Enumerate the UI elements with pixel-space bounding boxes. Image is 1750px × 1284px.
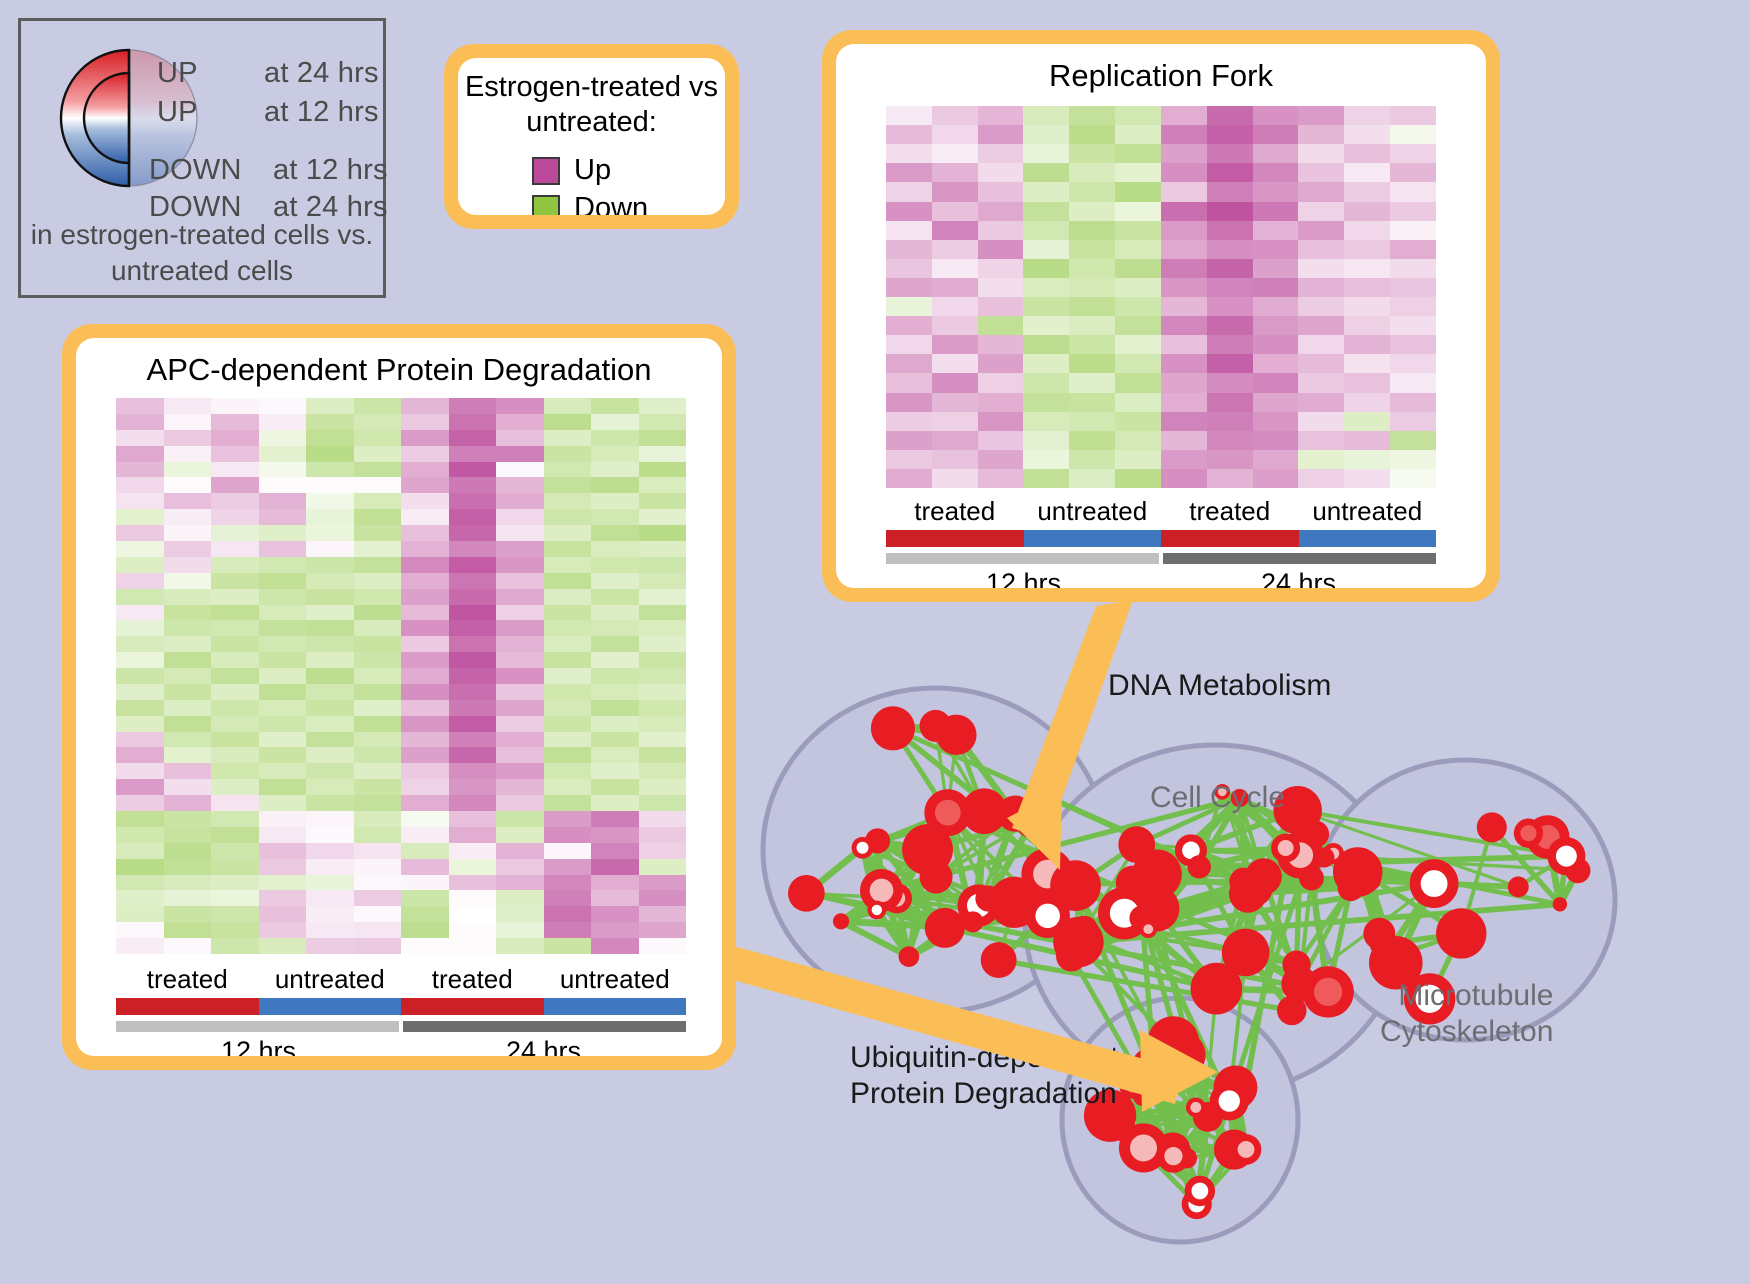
heatmap-cell (1069, 163, 1115, 182)
heatmap-cell (449, 398, 497, 414)
heatmap-cell (886, 354, 932, 373)
heatmap-cell (1023, 163, 1069, 182)
network-node[interactable] (975, 886, 1001, 912)
node-outer (1282, 951, 1310, 979)
heatmap-cell (116, 636, 164, 652)
heatmap-cell (211, 668, 259, 684)
heatmap-cell (1344, 354, 1390, 373)
heatmap-cell (639, 430, 687, 446)
heatmap-cell (164, 620, 212, 636)
heatmap-cell (1207, 354, 1253, 373)
network-node[interactable] (962, 911, 983, 932)
condition-label: untreated (1024, 496, 1162, 527)
network-node[interactable] (1130, 1046, 1177, 1093)
heatmap-cell (1390, 412, 1436, 431)
heatmap-cell (401, 763, 449, 779)
heatmap-cell (116, 716, 164, 732)
heatmap-cell (1115, 316, 1161, 335)
heatmap-cell (932, 373, 978, 392)
heatmap-cell (1298, 431, 1344, 450)
heatmap-cell (591, 890, 639, 906)
heatmap-cell (1253, 278, 1299, 297)
heatmap-cell (1298, 393, 1344, 412)
network-node[interactable] (788, 875, 825, 912)
heatmap-cell (116, 589, 164, 605)
heatmap-cell (401, 573, 449, 589)
heatmap-cell (1344, 335, 1390, 354)
node-outer (1130, 1046, 1177, 1093)
condition-bar-segment (1024, 530, 1162, 547)
node-inner (1191, 1183, 1208, 1200)
network-node[interactable] (1333, 847, 1382, 896)
heatmap-cell (1390, 221, 1436, 240)
node-inner (935, 800, 961, 826)
heatmap-cell (1023, 278, 1069, 297)
heatmap-cell (1344, 182, 1390, 201)
network-node[interactable] (1372, 948, 1394, 970)
heatmap-cell (354, 732, 402, 748)
node-outer (833, 913, 849, 929)
heatmap-cell (306, 573, 354, 589)
heatmap-cell (449, 573, 497, 589)
heatmap-cell (116, 922, 164, 938)
heatmap-cell (1207, 412, 1253, 431)
heatmap-cell (164, 462, 212, 478)
heatmap-cell (449, 938, 497, 954)
condition-label: untreated (544, 964, 687, 995)
heatmap-cell (544, 509, 592, 525)
apc-condition-labels: treated untreated treated untreated (116, 964, 686, 995)
heatmap-cell (259, 462, 307, 478)
network-node[interactable] (1188, 855, 1211, 878)
heatmap-cell (306, 493, 354, 509)
heatmap-cell (639, 605, 687, 621)
heatmap-cell (496, 430, 544, 446)
condition-bar-segment (401, 998, 544, 1015)
network-node[interactable] (1271, 834, 1300, 863)
heatmap-cell (1023, 354, 1069, 373)
node-outer (1050, 860, 1101, 911)
heatmap-cell (544, 843, 592, 859)
heatmap-cell (639, 859, 687, 875)
heatmap-cell (886, 125, 932, 144)
heatmap-cell (496, 477, 544, 493)
heatmap-cell (449, 890, 497, 906)
network-node[interactable] (1139, 920, 1157, 938)
heatmap-cell (544, 589, 592, 605)
heatmap-cell (306, 541, 354, 557)
heatmap-cell (591, 700, 639, 716)
heatmap-cell (259, 763, 307, 779)
heatmap-cell (978, 354, 1024, 373)
network-node[interactable] (1157, 1140, 1190, 1173)
heatmap-cell (544, 732, 592, 748)
network-node[interactable] (961, 788, 1007, 834)
network-node[interactable] (1314, 847, 1334, 867)
heatmap-cell (116, 747, 164, 763)
heatmap-cell (449, 541, 497, 557)
heatmap-cell (978, 412, 1024, 431)
network-node[interactable] (833, 913, 849, 929)
heatmap-cell (211, 811, 259, 827)
network-node[interactable] (899, 946, 920, 967)
heatmap-cell (1207, 125, 1253, 144)
heatmap-cell (306, 636, 354, 652)
heatmap-cell (449, 763, 497, 779)
heatmap-cell (886, 393, 932, 412)
heatmap-cell (1115, 240, 1161, 259)
node-inner (1314, 978, 1342, 1006)
heatmap-cell (211, 509, 259, 525)
heatmap-cell (1298, 221, 1344, 240)
heatmap-cell (1207, 393, 1253, 412)
heatmap-cell (259, 795, 307, 811)
heatmap-cell (1253, 354, 1299, 373)
network-node[interactable] (1553, 897, 1567, 911)
replication-fork-panel: Replication Fork treated untreated treat… (822, 30, 1500, 602)
heatmap-cell (544, 938, 592, 954)
heatmap-cell (259, 859, 307, 875)
heatmap-cell (164, 446, 212, 462)
heatmap-cell (401, 922, 449, 938)
network-node[interactable] (1222, 929, 1270, 977)
heatmap-cell (639, 795, 687, 811)
time-label: 12 hrs (116, 1036, 401, 1056)
heatmap-cell (496, 557, 544, 573)
network-node[interactable] (1277, 996, 1306, 1025)
heatmap-cell (544, 922, 592, 938)
heatmap-cell (591, 747, 639, 763)
condition-label: treated (1161, 496, 1299, 527)
heatmap-cell (259, 430, 307, 446)
heatmap-cell (449, 462, 497, 478)
heatmap-cell (886, 431, 932, 450)
heatmap-cell (354, 430, 402, 446)
heatmap-cell (259, 557, 307, 573)
heatmap-cell (1390, 335, 1436, 354)
heatmap-cell (591, 795, 639, 811)
heatmap-cell (978, 202, 1024, 221)
heatmap-cell (978, 373, 1024, 392)
node-outer (1363, 918, 1395, 950)
network-node[interactable] (1302, 966, 1353, 1017)
heatmap-cell (496, 541, 544, 557)
heatmap-cell (401, 430, 449, 446)
network-node[interactable] (852, 837, 874, 859)
heatmap-cell (639, 525, 687, 541)
replication-fork-time-bar (886, 553, 1436, 564)
heatmap-cell (259, 906, 307, 922)
network-node[interactable] (1210, 1082, 1249, 1121)
heatmap-cell (496, 668, 544, 684)
heatmap-cell (211, 747, 259, 763)
network-node[interactable] (1070, 916, 1098, 944)
node-outer (981, 942, 1017, 978)
heatmap-cell (401, 859, 449, 875)
heatmap-cell (1390, 144, 1436, 163)
heatmap-cell (1298, 354, 1344, 373)
heatmap-cell (544, 605, 592, 621)
heatmap-cell (354, 922, 402, 938)
heatmap-cell (496, 589, 544, 605)
heatmap-cell (544, 747, 592, 763)
heatmap-cell (1207, 259, 1253, 278)
heatmap-cell (1207, 335, 1253, 354)
network-node[interactable] (981, 942, 1017, 978)
heatmap-cell (932, 240, 978, 259)
heatmap-cell (1298, 106, 1344, 125)
heatmap-cell (449, 700, 497, 716)
heatmap-cell (886, 335, 932, 354)
heatmap-cell (164, 732, 212, 748)
network-node[interactable] (1299, 866, 1324, 891)
heatmap-cell (1069, 144, 1115, 163)
heatmap-cell (116, 779, 164, 795)
heatmap-cell (211, 573, 259, 589)
heatmap-cell (639, 684, 687, 700)
heatmap-cell (354, 875, 402, 891)
heatmap-cell (116, 493, 164, 509)
heatmap-cell (1069, 354, 1115, 373)
heatmap-cell (116, 541, 164, 557)
heatmap-cell (259, 525, 307, 541)
heatmap-cell (164, 716, 212, 732)
network-node[interactable] (1229, 868, 1257, 896)
network-node[interactable] (871, 706, 915, 750)
heatmap-cell (1298, 259, 1344, 278)
node-inner (1190, 1102, 1201, 1113)
condition-bar-segment (1299, 530, 1437, 547)
heatmap-cell (639, 811, 687, 827)
heatmap-cell (1161, 125, 1207, 144)
network-node[interactable] (1056, 941, 1087, 972)
heatmap-cell (639, 890, 687, 906)
heatmap-cell (1069, 412, 1115, 431)
network-node[interactable] (1547, 837, 1585, 875)
heatmap-cell (306, 811, 354, 827)
network-node[interactable] (867, 901, 886, 920)
heatmap-cell (1390, 202, 1436, 221)
heatmap-cell (116, 811, 164, 827)
network-node[interactable] (1282, 951, 1310, 979)
network-node[interactable] (1363, 918, 1395, 950)
heatmap-cell (164, 795, 212, 811)
heatmap-cell (639, 843, 687, 859)
heatmap-cell (306, 398, 354, 414)
heatmap-cell (1161, 469, 1207, 488)
heatmap-cell (1253, 335, 1299, 354)
heatmap-cell (639, 573, 687, 589)
network-node[interactable] (1186, 1097, 1206, 1117)
network-node[interactable] (1185, 1176, 1215, 1206)
heatmap-cell (1344, 240, 1390, 259)
heatmap-cell (1115, 354, 1161, 373)
heatmap-cell (886, 259, 932, 278)
heatmap-cell (116, 938, 164, 954)
heatmap-cell (1023, 182, 1069, 201)
heatmap-cell (449, 636, 497, 652)
time-label: 24 hrs (401, 1036, 686, 1056)
heatmap-cell (1390, 125, 1436, 144)
heatmap-cell (978, 431, 1024, 450)
heatmap-cell (211, 890, 259, 906)
heatmap-cell (449, 906, 497, 922)
node-outer (1508, 876, 1529, 897)
condition-bar-segment (886, 530, 1024, 547)
heatmap-cell (116, 398, 164, 414)
heatmap-cell (1344, 450, 1390, 469)
heatmap-cell (1253, 316, 1299, 335)
key-time-up-24: at 24 hrs (264, 57, 379, 90)
node-inner (1520, 825, 1536, 841)
heatmap-cell (496, 414, 544, 430)
network-node[interactable] (920, 710, 952, 742)
heatmap-cell (449, 605, 497, 621)
heatmap-cell (449, 446, 497, 462)
heatmap-cell (639, 620, 687, 636)
heatmap-cell (259, 875, 307, 891)
heatmap-cell (211, 398, 259, 414)
heatmap-cell (164, 493, 212, 509)
heatmap-cell (978, 240, 1024, 259)
heatmap-cell (544, 700, 592, 716)
node-inner (872, 905, 882, 915)
heatmap-cell (449, 668, 497, 684)
heatmap-cell (1344, 202, 1390, 221)
heatmap-cell (164, 509, 212, 525)
heatmap-cell (354, 541, 402, 557)
heatmap-cell (211, 493, 259, 509)
heatmap-cell (259, 509, 307, 525)
heatmap-cell (886, 106, 932, 125)
heatmap-cell (886, 316, 932, 335)
heatmap-cell (978, 469, 1024, 488)
heatmap-cell (1253, 182, 1299, 201)
heatmap-cell (639, 700, 687, 716)
heatmap-cell (1344, 373, 1390, 392)
heatmap-cell (1344, 259, 1390, 278)
heatmap-cell (449, 620, 497, 636)
heatmap-cell (116, 573, 164, 589)
network-node[interactable] (933, 918, 951, 936)
heatmap-cell (1390, 316, 1436, 335)
heatmap-cell (449, 922, 497, 938)
heatmap-cell (1023, 259, 1069, 278)
heatmap-cell (211, 684, 259, 700)
replication-fork-condition-labels: treated untreated treated untreated (886, 496, 1436, 527)
network-node[interactable] (902, 824, 953, 875)
heatmap-cell (354, 620, 402, 636)
heatmap-cell (1207, 469, 1253, 488)
node-inner (1035, 904, 1060, 929)
heatmap-cell (259, 716, 307, 732)
network-node[interactable] (1231, 1134, 1262, 1165)
heatmap-cell (639, 668, 687, 684)
node-outer (1553, 897, 1567, 911)
heatmap-cell (164, 811, 212, 827)
heatmap-cell (354, 716, 402, 732)
network-node[interactable] (1410, 859, 1459, 908)
heatmap-cell (1207, 450, 1253, 469)
heatmap-cell (1253, 202, 1299, 221)
heatmap-cell (306, 477, 354, 493)
network-node[interactable] (1477, 812, 1507, 842)
network-node[interactable] (1436, 908, 1486, 958)
node-outer (1229, 868, 1257, 896)
heatmap-cell (354, 605, 402, 621)
heatmap-cell (354, 827, 402, 843)
heatmap-cell (354, 462, 402, 478)
heatmap-cell (932, 316, 978, 335)
condition-bar-segment (1161, 530, 1299, 547)
heatmap-cell (116, 525, 164, 541)
heatmap-cell (1115, 469, 1161, 488)
heatmap-cell (591, 573, 639, 589)
heatmap-cell (978, 450, 1024, 469)
heatmap-cell (1161, 335, 1207, 354)
heatmap-cell (164, 477, 212, 493)
condition-bar-segment (259, 998, 402, 1015)
heatmap-cell (449, 811, 497, 827)
heatmap-cell (1161, 450, 1207, 469)
heatmap-cell (354, 700, 402, 716)
heatmap-cell (164, 430, 212, 446)
heatmap-cell (401, 684, 449, 700)
heatmap-cell (1253, 373, 1299, 392)
heatmap-cell (401, 811, 449, 827)
node-outer (788, 875, 825, 912)
heatmap-cell (116, 700, 164, 716)
heatmap-cell (116, 763, 164, 779)
heatmap-cell (1298, 316, 1344, 335)
heatmap-cell (211, 700, 259, 716)
heatmap-cell (306, 446, 354, 462)
time-bar-segment (403, 1021, 686, 1032)
network-node[interactable] (1508, 876, 1529, 897)
network-node[interactable] (1514, 819, 1543, 848)
heatmap-cell (449, 827, 497, 843)
heatmap-cell (211, 906, 259, 922)
heatmap-cell (116, 414, 164, 430)
heatmap-cell (401, 589, 449, 605)
heatmap-cell (116, 684, 164, 700)
heatmap-cell (886, 469, 932, 488)
heatmap-cell (544, 525, 592, 541)
heatmap-cell (932, 144, 978, 163)
heatmap-cell (544, 414, 592, 430)
heatmap-cell (591, 811, 639, 827)
heatmap-cell (886, 163, 932, 182)
heatmap-cell (164, 700, 212, 716)
heatmap-cell (401, 890, 449, 906)
heatmap-cell (1298, 412, 1344, 431)
heatmap-cell (932, 393, 978, 412)
heatmap-cell (1069, 450, 1115, 469)
heatmap-cell (259, 605, 307, 621)
heatmap-cell (1115, 259, 1161, 278)
heatmap-cell (1298, 182, 1344, 201)
heatmap-cell (1161, 297, 1207, 316)
heatmap-cell (496, 875, 544, 891)
heatmap-cell (496, 859, 544, 875)
heatmap-cell (401, 557, 449, 573)
node-outer (899, 946, 920, 967)
heatmap-cell (591, 557, 639, 573)
key-label-up-12: UP (157, 96, 198, 129)
network-node[interactable] (1050, 860, 1101, 911)
heatmap-cell (1207, 202, 1253, 221)
heatmap-cell (211, 732, 259, 748)
